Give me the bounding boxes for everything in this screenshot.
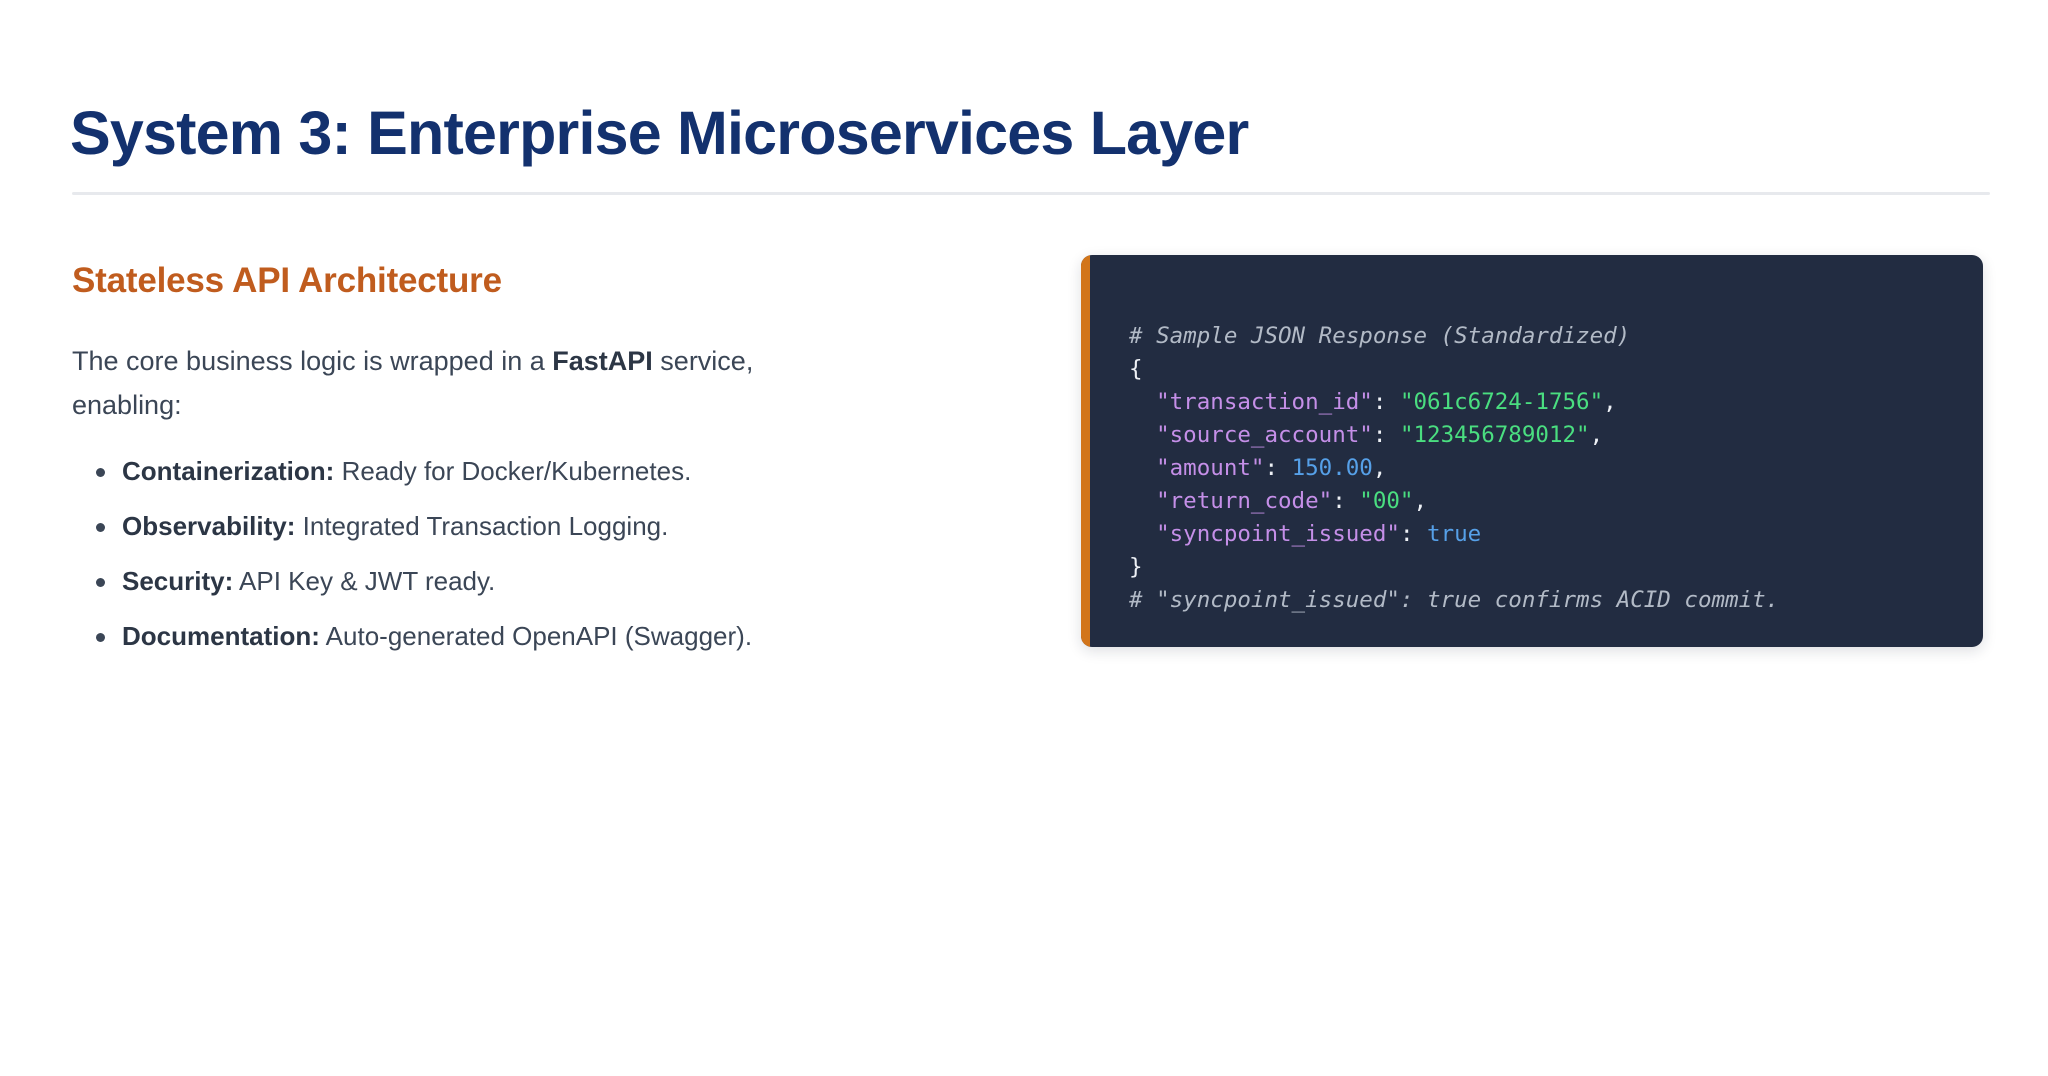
code-line-source-account: "source_account": "123456789012", bbox=[1129, 419, 1965, 452]
code-brace-close: } bbox=[1129, 554, 1143, 580]
feature-bullet-list: Containerization: Ready for Docker/Kuber… bbox=[72, 455, 972, 653]
code-value-return-code: "00" bbox=[1359, 488, 1413, 514]
code-colon: : bbox=[1400, 521, 1427, 547]
bullet-text: Auto-generated OpenAPI (Swagger). bbox=[320, 621, 752, 651]
paragraph-bold-fastapi: FastAPI bbox=[552, 346, 653, 376]
code-line-amount: "amount": 150.00, bbox=[1129, 452, 1965, 485]
page-title: System 3: Enterprise Microservices Layer bbox=[70, 99, 1248, 167]
code-comma: , bbox=[1603, 389, 1617, 415]
bullet-text: Ready for Docker/Kubernetes. bbox=[334, 456, 691, 486]
section-heading: Stateless API Architecture bbox=[72, 260, 972, 302]
list-item: Containerization: Ready for Docker/Kuber… bbox=[72, 455, 972, 489]
code-value-transaction-id: "061c6724-1756" bbox=[1400, 389, 1603, 415]
bullet-label: Security: bbox=[122, 566, 233, 596]
code-colon: : bbox=[1373, 389, 1400, 415]
bullet-label: Documentation: bbox=[122, 621, 320, 651]
code-comment-footer-text: # "syncpoint_issued": true confirms ACID… bbox=[1129, 587, 1779, 613]
left-content-column: Stateless API Architecture The core busi… bbox=[72, 260, 972, 675]
code-key-amount: "amount" bbox=[1156, 455, 1264, 481]
code-comma: , bbox=[1590, 422, 1604, 448]
code-accent-bar bbox=[1081, 255, 1090, 647]
code-line-close-brace: } bbox=[1129, 551, 1965, 584]
slide-root: System 3: Enterprise Microservices Layer… bbox=[0, 0, 2048, 1076]
code-value-amount: 150.00 bbox=[1292, 455, 1373, 481]
code-key-syncpoint-issued: "syncpoint_issued" bbox=[1156, 521, 1400, 547]
code-key-return-code: "return_code" bbox=[1156, 488, 1332, 514]
bullet-text: API Key & JWT ready. bbox=[233, 566, 495, 596]
list-item: Documentation: Auto-generated OpenAPI (S… bbox=[72, 620, 972, 654]
code-value-source-account: "123456789012" bbox=[1400, 422, 1590, 448]
title-divider bbox=[72, 192, 1990, 195]
intro-paragraph: The core business logic is wrapped in a … bbox=[72, 340, 862, 427]
code-indent bbox=[1129, 389, 1156, 415]
code-line-return-code: "return_code": "00", bbox=[1129, 485, 1965, 518]
code-value-syncpoint-issued: true bbox=[1427, 521, 1481, 547]
code-comma: , bbox=[1373, 455, 1387, 481]
bullet-text: Integrated Transaction Logging. bbox=[295, 511, 668, 541]
code-comma: , bbox=[1413, 488, 1427, 514]
list-item: Observability: Integrated Transaction Lo… bbox=[72, 510, 972, 544]
code-key-source-account: "source_account" bbox=[1156, 422, 1373, 448]
code-colon: : bbox=[1264, 455, 1291, 481]
bullet-label: Containerization: bbox=[122, 456, 334, 486]
code-brace-open: { bbox=[1129, 356, 1143, 382]
code-indent bbox=[1129, 488, 1156, 514]
code-key-transaction-id: "transaction_id" bbox=[1156, 389, 1373, 415]
list-item: Security: API Key & JWT ready. bbox=[72, 565, 972, 599]
code-line-syncpoint-issued: "syncpoint_issued": true bbox=[1129, 518, 1965, 551]
code-indent bbox=[1129, 422, 1156, 448]
code-colon: : bbox=[1332, 488, 1359, 514]
code-line-comment-footer: # "syncpoint_issued": true confirms ACID… bbox=[1129, 584, 1965, 617]
code-indent bbox=[1129, 455, 1156, 481]
code-indent bbox=[1129, 521, 1156, 547]
bullet-label: Observability: bbox=[122, 511, 295, 541]
code-line-transaction-id: "transaction_id": "061c6724-1756", bbox=[1129, 386, 1965, 419]
code-line-open-brace: { bbox=[1129, 353, 1965, 386]
code-colon: : bbox=[1373, 422, 1400, 448]
code-block: # Sample JSON Response (Standardized){ "… bbox=[1129, 320, 1965, 617]
code-comment-text: # Sample JSON Response (Standardized) bbox=[1129, 323, 1630, 349]
paragraph-text-before: The core business logic is wrapped in a bbox=[72, 346, 552, 376]
code-line-comment-header: # Sample JSON Response (Standardized) bbox=[1129, 320, 1965, 353]
code-sample-panel: # Sample JSON Response (Standardized){ "… bbox=[1081, 255, 1983, 647]
